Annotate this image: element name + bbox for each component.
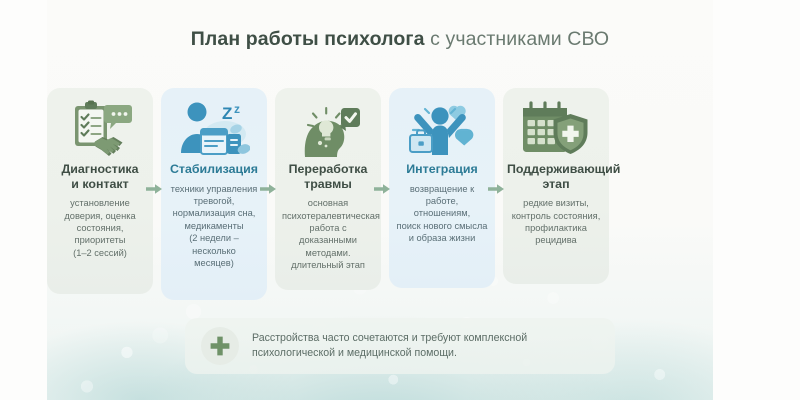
- stage-card-title: Переработкатравмы: [279, 162, 377, 191]
- stage-card-body: установлениедоверия, оценкасостояния, пр…: [51, 197, 149, 259]
- stage-card-pererabotka-travmy[interactable]: Переработкатравмы основнаяпсихотералевти…: [275, 88, 381, 290]
- head-lightbulb-check-icon: [279, 98, 377, 160]
- stage-card-title: Поддерживающийэтап: [507, 162, 605, 191]
- stage-card-title: Диагностикаи контакт: [51, 162, 149, 191]
- calendar-shield-cross-icon: [507, 98, 605, 160]
- arrow-right-icon: [488, 183, 504, 195]
- arrow-right-icon: [146, 183, 162, 195]
- arrow-right-icon: [374, 183, 390, 195]
- clipboard-checklist-handshake-icon: [51, 98, 149, 160]
- stage-card-body: редкие визиты,контроль состояния,профила…: [507, 197, 605, 247]
- summary-banner-text: Расстройства часто сочетаются и требуют …: [252, 331, 527, 362]
- summary-banner-line1: Расстройства часто сочетаются и требуют …: [252, 331, 527, 347]
- stage-card-stabilizaciya[interactable]: Z z: [161, 88, 267, 300]
- person-arms-up-hearts-briefcase-icon: [393, 98, 491, 160]
- page-title: План работы психолога с участниками СВО: [0, 28, 800, 51]
- stage-card-title: Стабилизация: [165, 162, 263, 177]
- stage-card-body: техники управлениятревогой,нормализация …: [165, 183, 263, 270]
- stage-cards-row: Диагностикаи контакт установлениедоверия…: [47, 88, 713, 300]
- stage-card-podderzhivayushchiy-etap[interactable]: Поддерживающийэтап редкие визиты,контрол…: [503, 88, 609, 284]
- left-edge-fade: [0, 0, 40, 400]
- stage-card-title: Интеграция: [393, 162, 491, 177]
- page-title-bold: План работы психолога: [191, 28, 425, 50]
- svg-text:z: z: [234, 102, 240, 116]
- infographic-canvas: План работы психолога с участниками СВО: [0, 0, 800, 400]
- stage-card-body: основнаяпсихотералевтическаяработа с док…: [279, 197, 377, 271]
- right-edge-fade: [760, 0, 800, 400]
- stage-card-integraciya[interactable]: Интеграция возвращение к работе,отношени…: [389, 88, 495, 288]
- medical-cross-icon: [201, 327, 239, 365]
- summary-banner-line2: психологической и медицинской помощи.: [252, 346, 527, 362]
- stage-card-body: возвращение к работе,отношениям,поиск но…: [393, 183, 491, 245]
- person-sleep-medication-icon: Z z: [165, 98, 263, 160]
- svg-text:Z: Z: [222, 104, 232, 123]
- stage-card-diagnostika[interactable]: Диагностикаи контакт установлениедоверия…: [47, 88, 153, 294]
- arrow-right-icon: [260, 183, 276, 195]
- page-title-regular: с участниками СВО: [425, 28, 610, 50]
- summary-banner: Расстройства часто сочетаются и требуют …: [185, 318, 615, 374]
